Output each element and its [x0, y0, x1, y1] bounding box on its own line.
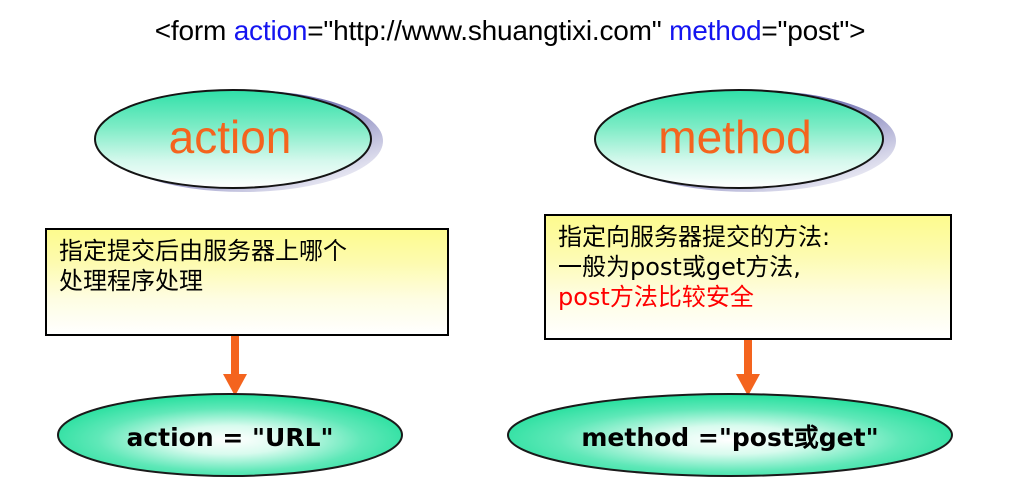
action-result-ellipse: action = "URL" — [56, 392, 404, 478]
method-note-line-3: post方法比较安全 — [558, 282, 940, 312]
method-result-ellipse: method ="post或get" — [506, 392, 954, 478]
code-segment-action-value: ="http://www.shuangtixi.com" — [307, 15, 669, 46]
method-cap-label: method — [579, 114, 891, 160]
action-note-line-1: 指定提交后由服务器上哪个 — [59, 236, 437, 266]
code-segment-method-value: ="post"> — [761, 15, 865, 46]
method-note-box: 指定向服务器提交的方法: 一般为post或get方法, post方法比较安全 — [544, 214, 952, 340]
method-note-line-2: 一般为post或get方法, — [558, 252, 940, 282]
method-cap-ellipse: method — [588, 84, 900, 196]
method-arrow-down-icon — [735, 340, 761, 398]
action-arrow-down — [222, 336, 248, 398]
code-segment-method-attr: method — [669, 15, 761, 46]
action-result-label: action = "URL" — [56, 425, 404, 450]
action-arrow-down-icon — [222, 336, 248, 398]
method-arrow-down — [735, 340, 761, 398]
code-segment-action-attr: action — [234, 15, 308, 46]
form-tag-code-line: <form action="http://www.shuangtixi.com"… — [0, 14, 1020, 48]
method-result-label: method ="post或get" — [506, 425, 954, 450]
action-cap-ellipse: action — [88, 84, 388, 196]
action-note-box: 指定提交后由服务器上哪个 处理程序处理 — [45, 228, 449, 336]
action-note-line-2: 处理程序处理 — [59, 266, 437, 296]
method-note-line-1: 指定向服务器提交的方法: — [558, 222, 940, 252]
action-cap-label: action — [80, 114, 380, 160]
code-segment-form-open: <form — [155, 15, 234, 46]
